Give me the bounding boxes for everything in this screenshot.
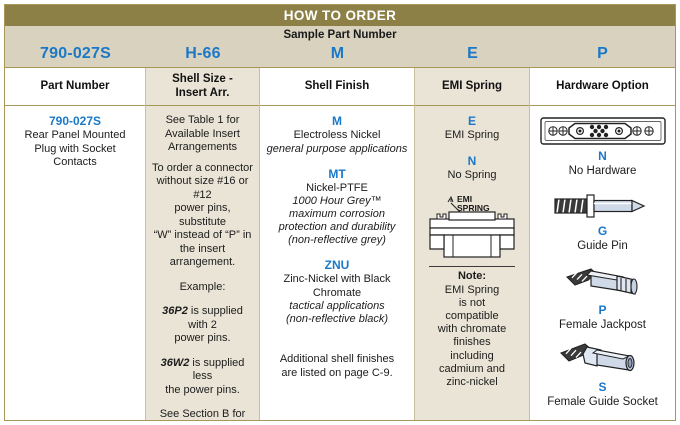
hardware-code-p: P bbox=[535, 303, 670, 318]
shell-finish-option-note-znu-1: tactical applications bbox=[265, 300, 409, 313]
part-number-desc-line-2: Plug with Socket bbox=[10, 143, 140, 157]
shell-finish-option-name-znu-1: Zinc-Nickel with Black bbox=[265, 273, 409, 287]
sample-value-shell-size: H-66 bbox=[146, 44, 260, 64]
table-columns: Part Number 790-027S Rear Panel Mounted … bbox=[5, 68, 675, 420]
column-heading-part-number: Part Number bbox=[5, 68, 145, 106]
column-emi-spring: EMI Spring E EMI Spring N No Spring bbox=[415, 68, 530, 420]
hardware-code-s: S bbox=[535, 380, 670, 395]
shell-size-example-2-code: 36W2 bbox=[161, 357, 190, 369]
hardware-code-n: N bbox=[535, 149, 670, 164]
emi-option-label-e: EMI Spring bbox=[420, 129, 524, 143]
emi-option-code-n: N bbox=[420, 154, 524, 169]
emi-note-line-4: with chromate bbox=[420, 323, 524, 336]
female-guide-socket-icon bbox=[547, 339, 659, 379]
hardware-label-p: Female Jackpost bbox=[535, 318, 670, 332]
table-title-bar: HOW TO ORDER bbox=[5, 5, 675, 26]
shell-finish-option-note-mt-4: (non-reflective grey) bbox=[265, 234, 409, 247]
shell-size-example-1: 36P2 is supplied with 2 bbox=[151, 305, 254, 332]
shell-finish-option-code-mt: MT bbox=[265, 167, 409, 182]
sample-part-number-band: Sample Part Number 790-027S H-66 M E P bbox=[5, 26, 675, 68]
emi-note-line-5: finishes bbox=[420, 336, 524, 349]
sample-value-part-number: 790-027S bbox=[5, 44, 146, 64]
shell-finish-option-name-znu-2: Chromate bbox=[265, 287, 409, 301]
emi-note-line-6: including bbox=[420, 350, 524, 363]
note-divider bbox=[429, 266, 515, 267]
shell-size-intro-line-1: See Table 1 for bbox=[151, 114, 254, 128]
emi-note-line-1: EMI Spring bbox=[420, 284, 524, 297]
emi-note-title: Note: bbox=[420, 270, 524, 284]
part-number-code: 790-027S bbox=[10, 114, 140, 129]
shell-finish-option-name-m: Electroless Nickel bbox=[265, 129, 409, 143]
shell-size-example-1-code: 36P2 bbox=[162, 305, 188, 317]
shell-finish-option-code-m: M bbox=[265, 114, 409, 129]
part-number-desc-line-1: Rear Panel Mounted bbox=[10, 129, 140, 143]
emi-note-line-7: cadmium and bbox=[420, 363, 524, 376]
column-heading-shell-finish: Shell Finish bbox=[260, 68, 414, 106]
shell-size-example-label: Example: bbox=[151, 281, 254, 295]
guide-pin-icon bbox=[547, 189, 659, 223]
hardware-label-s: Female Guide Socket bbox=[535, 395, 670, 409]
shell-size-para1-line-4: “W” instead of “P” in bbox=[151, 229, 254, 243]
shell-size-example-2-text-2: the power pins. bbox=[151, 384, 254, 398]
column-heading-hardware-option: Hardware Option bbox=[530, 68, 675, 106]
shell-finish-footer-line-1: Additional shell finishes bbox=[265, 353, 409, 367]
column-body-hardware-option: N No Hardware bbox=[530, 106, 675, 420]
column-part-number: Part Number 790-027S Rear Panel Mounted … bbox=[5, 68, 146, 420]
shell-finish-option-name-mt: Nickel-PTFE bbox=[265, 182, 409, 196]
shell-size-intro-line-3: Arrangements bbox=[151, 141, 254, 155]
hardware-label-g: Guide Pin bbox=[535, 239, 670, 253]
emi-note-line-8: zinc-nickel bbox=[420, 376, 524, 389]
column-body-emi-spring: E EMI Spring N No Spring EMI SPRING bbox=[415, 106, 529, 420]
emi-note-line-2: is not bbox=[420, 297, 524, 310]
column-heading-emi-spring: EMI Spring bbox=[415, 68, 529, 106]
how-to-order-table: HOW TO ORDER Sample Part Number 790-027S… bbox=[4, 4, 676, 421]
shell-finish-option-note-znu-2: (non-reflective black) bbox=[265, 313, 409, 326]
shell-size-para1-line-1: To order a connector bbox=[151, 162, 254, 176]
column-heading-shell-size-line-2: Insert Arr. bbox=[176, 87, 230, 99]
dsub-connector-front-icon bbox=[539, 114, 667, 148]
hardware-code-g: G bbox=[535, 224, 670, 239]
hardware-figure-female-jackpost bbox=[535, 264, 670, 302]
shell-size-para1-line-5: the insert arrangement. bbox=[151, 243, 254, 270]
shell-finish-footer-line-2: are listed on page C-9. bbox=[265, 367, 409, 381]
sample-part-number-label: Sample Part Number bbox=[5, 28, 675, 42]
shell-size-example-1-text: is supplied with 2 bbox=[188, 305, 243, 331]
shell-finish-option-note-m-1: general purpose applications bbox=[265, 143, 409, 156]
emi-spring-cross-section-icon: EMI SPRING bbox=[420, 193, 524, 259]
shell-size-example-2-text: is supplied less bbox=[192, 357, 244, 383]
shell-size-example-1-text-2: power pins. bbox=[151, 332, 254, 346]
emi-note-line-3: compatible bbox=[420, 310, 524, 323]
sample-part-number-row: 790-027S H-66 M E P bbox=[5, 44, 675, 64]
shell-size-para2-line-1: See Section B for bbox=[151, 408, 254, 420]
column-body-part-number: 790-027S Rear Panel Mounted Plug with So… bbox=[5, 106, 145, 420]
shell-size-para1-line-3: power pins, substitute bbox=[151, 202, 254, 229]
column-hardware-option: Hardware Option bbox=[530, 68, 675, 420]
shell-finish-option-note-mt-3: protection and durability bbox=[265, 221, 409, 234]
shell-size-example-2: 36W2 is supplied less bbox=[151, 357, 254, 384]
shell-finish-option-note-mt-1: 1000 Hour Grey™ bbox=[265, 195, 409, 208]
shell-finish-option-code-znu: ZNU bbox=[265, 258, 409, 273]
column-body-shell-finish: M Electroless Nickel general purpose app… bbox=[260, 106, 414, 420]
sample-value-emi-spring: E bbox=[415, 44, 530, 64]
hardware-figure-female-guide-socket bbox=[535, 339, 670, 379]
hardware-figure-guide-pin bbox=[535, 189, 670, 223]
sample-value-hardware-option: P bbox=[530, 44, 675, 64]
emi-option-label-n: No Spring bbox=[420, 169, 524, 183]
how-to-order-page: HOW TO ORDER Sample Part Number 790-027S… bbox=[0, 0, 680, 425]
shell-size-para1-line-2: without size #16 or #12 bbox=[151, 175, 254, 202]
sample-value-shell-finish: M bbox=[260, 44, 415, 64]
female-jackpost-icon bbox=[547, 264, 659, 302]
emi-option-code-e: E bbox=[420, 114, 524, 129]
part-number-desc-line-3: Contacts bbox=[10, 156, 140, 170]
shell-size-intro-line-2: Available Insert bbox=[151, 128, 254, 142]
shell-finish-option-note-mt-2: maximum corrosion bbox=[265, 208, 409, 221]
hardware-label-n: No Hardware bbox=[535, 164, 670, 178]
hardware-figure-no-hardware bbox=[535, 114, 670, 148]
column-shell-size-insert-arr: Shell Size - Insert Arr. See Table 1 for… bbox=[146, 68, 260, 420]
column-body-shell-size: See Table 1 for Available Insert Arrange… bbox=[146, 106, 259, 420]
emi-spring-figure: EMI SPRING bbox=[420, 193, 524, 259]
column-heading-shell-size: Shell Size - Insert Arr. bbox=[146, 68, 259, 106]
page-title: HOW TO ORDER bbox=[284, 8, 397, 23]
column-heading-shell-size-line-1: Shell Size - bbox=[172, 73, 233, 85]
column-shell-finish: Shell Finish M Electroless Nickel genera… bbox=[260, 68, 415, 420]
